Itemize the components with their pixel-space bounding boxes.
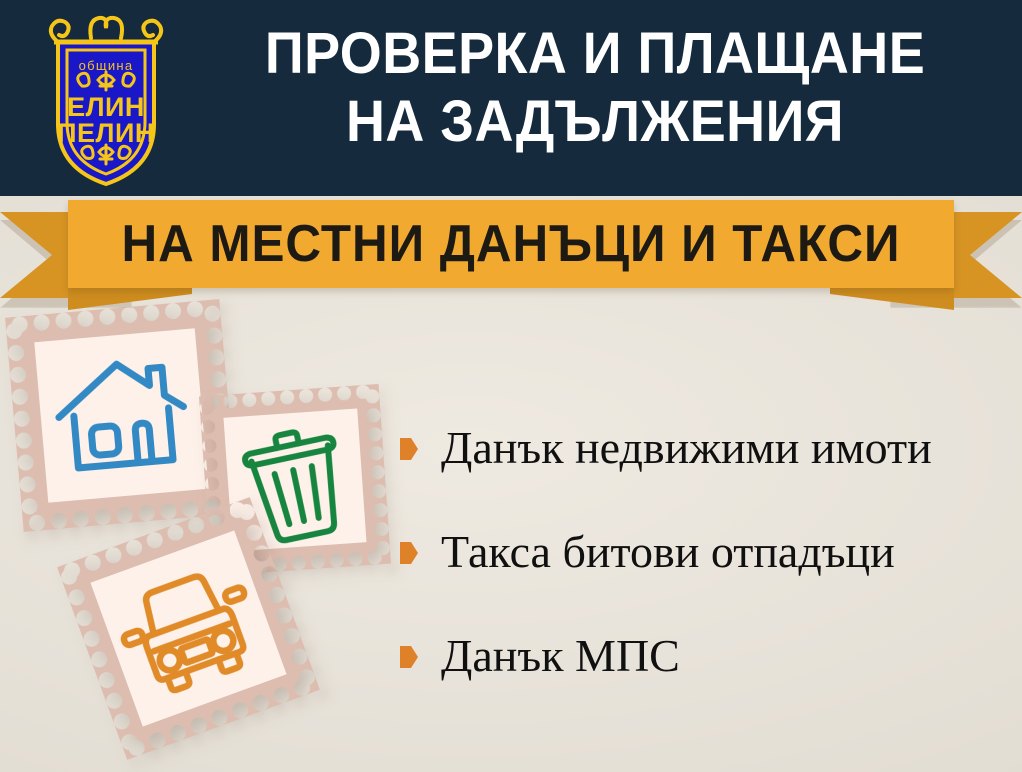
tax-types-list: Данък недвижими имоти Такса битови отпад… [400, 420, 1010, 684]
municipality-crest-logo: община ЕЛИН ПЕЛИН [36, 8, 176, 188]
arrow-bullet-icon [400, 542, 418, 564]
header-bar: община ЕЛИН ПЕЛИН [0, 0, 1022, 196]
arrow-bullet-icon [400, 646, 418, 668]
ribbon-banner: НА МЕСТНИ ДАНЪЦИ И ТАКСИ [0, 196, 1022, 311]
list-item-label: Данък МПС [441, 631, 680, 681]
title-line-2: НА ЗАДЪЛЖЕНИЯ [209, 88, 981, 156]
poster-canvas: община ЕЛИН ПЕЛИН [0, 0, 1022, 772]
ribbon-label: НА МЕСТНИ ДАНЪЦИ И ТАКСИ [121, 216, 900, 272]
poster-title: ПРОВЕРКА И ПЛАЩАНЕ НА ЗАДЪЛЖЕНИЯ [180, 20, 1010, 156]
list-item-label: Такса битови отпадъци [441, 527, 895, 577]
list-item[interactable]: Данък МПС [400, 628, 1010, 684]
ribbon-bar: НА МЕСТНИ ДАНЪЦИ И ТАКСИ [68, 200, 954, 288]
stamp-cards-group [0, 300, 430, 770]
list-item[interactable]: Данък недвижими имоти [400, 420, 1010, 476]
list-item[interactable]: Такса битови отпадъци [400, 524, 1010, 580]
list-item-label: Данък недвижими имоти [441, 423, 932, 473]
coat-of-arms-shield-icon: община ЕЛИН ПЕЛИН [36, 8, 176, 188]
title-line-1: ПРОВЕРКА И ПЛАЩАНЕ [209, 20, 981, 88]
arrow-bullet-icon [400, 438, 418, 460]
